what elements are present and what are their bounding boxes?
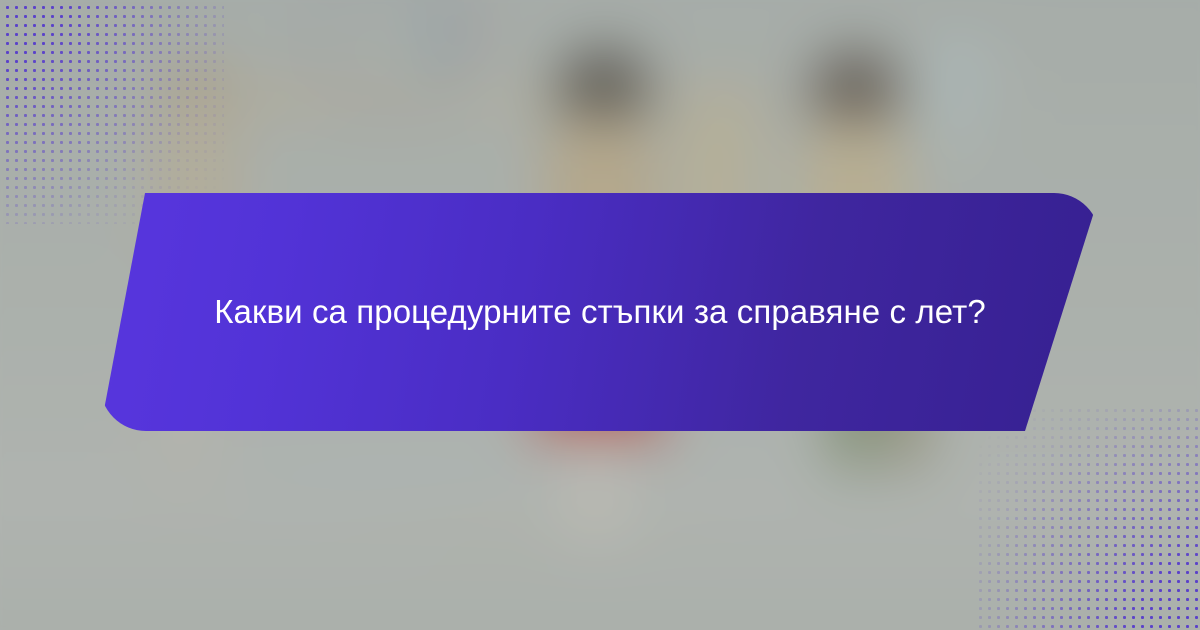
question-text: Какви са процедурните стъпки за справяне… xyxy=(190,285,1010,338)
question-banner: Какви са процедурните стъпки за справяне… xyxy=(100,193,1100,431)
share-card: Какви са процедурните стъпки за справяне… xyxy=(0,0,1200,630)
